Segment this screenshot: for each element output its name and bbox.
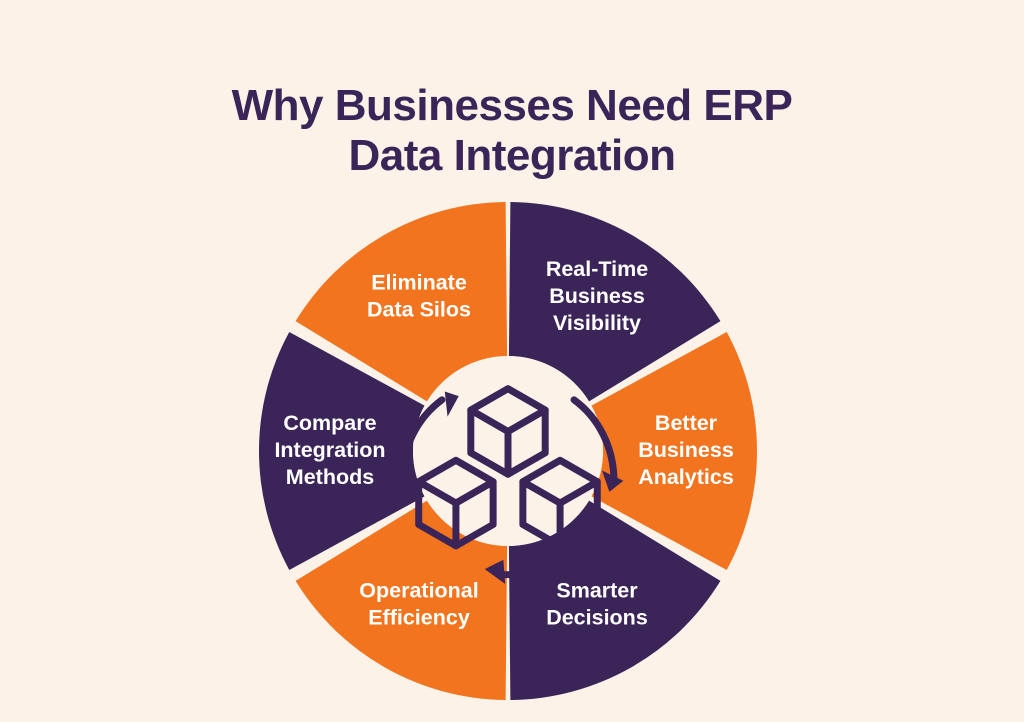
segment-label-line: Real-Time — [546, 257, 648, 281]
segment-label-line: Data Silos — [367, 297, 471, 321]
segment-label-line: Business — [638, 438, 734, 462]
segment-label-line: Operational — [359, 578, 478, 602]
segment-label-real-time-business-visibility: Real-TimeBusinessVisibility — [546, 257, 648, 335]
infographic-canvas: Why Businesses Need ERP Data Integration — [0, 0, 1024, 722]
segment-label-line: Efficiency — [368, 605, 470, 629]
segment-label-line: Business — [549, 284, 645, 308]
segment-label-line: Visibility — [553, 311, 641, 335]
erp-benefits-wheel: Real-TimeBusinessVisibilityBetterBusines… — [259, 202, 757, 700]
segment-label-line: Smarter — [556, 578, 638, 602]
page-title-line-2: Data Integration — [0, 131, 1024, 180]
segment-label-line: Analytics — [638, 465, 734, 489]
page-title-line-1: Why Businesses Need ERP — [0, 81, 1024, 130]
segment-label-line: Methods — [286, 465, 374, 489]
segment-label-compare-integration-methods: CompareIntegrationMethods — [274, 411, 385, 489]
segment-label-line: Decisions — [546, 605, 648, 629]
segment-label-line: Compare — [283, 411, 376, 435]
segment-label-line: Integration — [274, 438, 385, 462]
donut-wheel-svg: Real-TimeBusinessVisibilityBetterBusines… — [259, 202, 757, 700]
segment-label-line: Eliminate — [371, 270, 467, 294]
page-title: Why Businesses Need ERP Data Integration — [0, 81, 1024, 180]
segment-label-line: Better — [655, 411, 718, 435]
